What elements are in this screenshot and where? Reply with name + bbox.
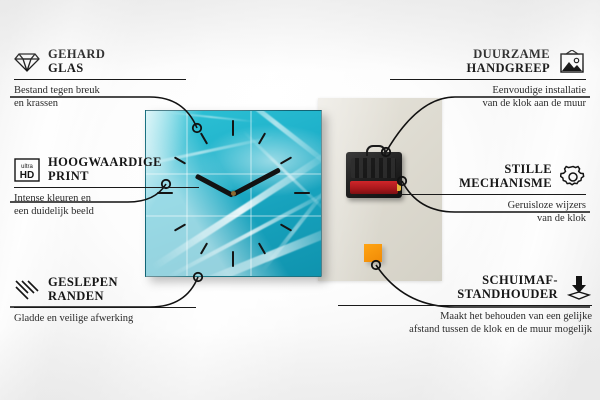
clock-mechanism (346, 152, 402, 198)
hour-tick-12 (232, 120, 234, 136)
callout-sub-line1: Intense kleuren en (14, 193, 91, 204)
callout-header: DUURZAME HANDGREEP (390, 48, 586, 75)
callout-title-line2: GLAS (48, 61, 84, 75)
callout-title-line1: SCHUIMAF- (482, 273, 558, 287)
callout-sub-line2: afstand tussen de klok en de muur mogeli… (409, 324, 592, 335)
hour-hand (195, 174, 234, 198)
feather-plume (166, 111, 256, 122)
callout-schuimafstandhouder: SCHUIMAF- STANDHOUDER Maakt het behouden… (338, 274, 592, 336)
callout-sub-line1: Gladde en veilige afwerking (14, 313, 133, 324)
gear-icon (560, 164, 586, 190)
battery (350, 181, 398, 194)
callout-subtitle: Geruisloze wijzers van de klok (400, 200, 586, 225)
divider (338, 305, 592, 306)
divider (14, 79, 186, 80)
callout-title-line1: HOOGWAARDIGE (48, 155, 162, 169)
beveled-edges-icon (14, 279, 40, 301)
hour-tick-2 (280, 156, 292, 164)
callout-stille-mechanisme: STILLE MECHANISME Geruisloze wijzers van… (400, 163, 586, 225)
hour-tick-11 (200, 132, 208, 144)
callout-title-line1: DUURZAME (473, 47, 550, 61)
callout-title-line2: RANDEN (48, 289, 104, 303)
hand-pivot (231, 191, 236, 196)
callout-geslepen-randen: GESLEPEN RANDEN Gladde en veilige afwerk… (14, 276, 196, 326)
callout-header: STILLE MECHANISME (400, 163, 586, 190)
hour-tick-3 (294, 192, 310, 194)
svg-text:HD: HD (20, 170, 34, 181)
divider (400, 194, 586, 195)
divider (14, 187, 199, 188)
callout-title: HOOGWAARDIGE PRINT (48, 156, 162, 183)
picture-frame-icon (558, 50, 586, 74)
hour-tick-4 (280, 223, 292, 231)
callout-sub-line1: Eenvoudige installatie (492, 85, 586, 96)
callout-subtitle: Gladde en veilige afwerking (14, 313, 196, 326)
callout-title-line2: HANDGREEP (467, 61, 550, 75)
callout-subtitle: Bestand tegen breuk en krassen (14, 85, 186, 110)
callout-title: GESLEPEN RANDEN (48, 276, 118, 303)
callout-title: SCHUIMAF- STANDHOUDER (457, 274, 558, 301)
callout-header: GEHARD GLAS (14, 48, 186, 75)
callout-subtitle: Maakt het behouden van een gelijke afsta… (338, 311, 592, 336)
callout-title-line2: STANDHOUDER (457, 287, 558, 301)
hour-tick-6 (232, 251, 234, 267)
foam-spacer (364, 244, 382, 262)
hour-tick-5 (258, 242, 266, 254)
mechanism-housing (351, 158, 396, 178)
callout-header: SCHUIMAF- STANDHOUDER (338, 274, 592, 301)
callout-title-line1: GEHARD (48, 47, 105, 61)
hour-tick-8 (174, 223, 186, 231)
callout-sub-line1: Bestand tegen breuk (14, 85, 100, 96)
divider (390, 79, 586, 80)
callout-header: GESLEPEN RANDEN (14, 276, 196, 303)
hanging-hook-icon (366, 145, 386, 156)
callout-title: STILLE MECHANISME (459, 163, 552, 190)
callout-sub-line1: Maakt het behouden van een gelijke (440, 311, 592, 322)
callout-title-line1: STILLE (504, 162, 552, 176)
infographic-canvas: GEHARD GLAS Bestand tegen breuk en krass… (0, 0, 600, 400)
callout-title: DUURZAME HANDGREEP (467, 48, 550, 75)
glass-reflection-line (250, 111, 252, 276)
callout-title-line2: PRINT (48, 169, 89, 183)
callout-subtitle: Eenvoudige installatie van de klok aan d… (390, 85, 586, 110)
diamond-icon (14, 51, 40, 73)
callout-sub-line2: van de klok (537, 213, 586, 224)
callout-title-line1: GESLEPEN (48, 275, 118, 289)
callout-sub-line1: Geruisloze wijzers (508, 200, 586, 211)
callout-title-line2: MECHANISME (459, 176, 552, 190)
callout-title: GEHARD GLAS (48, 48, 105, 75)
foam-spacer-icon (566, 275, 592, 301)
callout-header: ultra HD HOOGWAARDIGE PRINT (14, 156, 199, 183)
callout-sub-line2: en krassen (14, 98, 58, 109)
callout-gehard-glas: GEHARD GLAS Bestand tegen breuk en krass… (14, 48, 186, 110)
callout-sub-line2: een duidelijk beeld (14, 206, 94, 217)
callout-hoogwaardige-print: ultra HD HOOGWAARDIGE PRINT Intense kleu… (14, 156, 199, 218)
callout-sub-line2: van de klok aan de muur (482, 98, 586, 109)
divider (14, 307, 196, 308)
ultra-hd-icon: ultra HD (14, 158, 40, 182)
callout-duurzame-handgreep: DUURZAME HANDGREEP Eenvoudige installati… (390, 48, 586, 110)
callout-subtitle: Intense kleuren en een duidelijk beeld (14, 193, 199, 218)
